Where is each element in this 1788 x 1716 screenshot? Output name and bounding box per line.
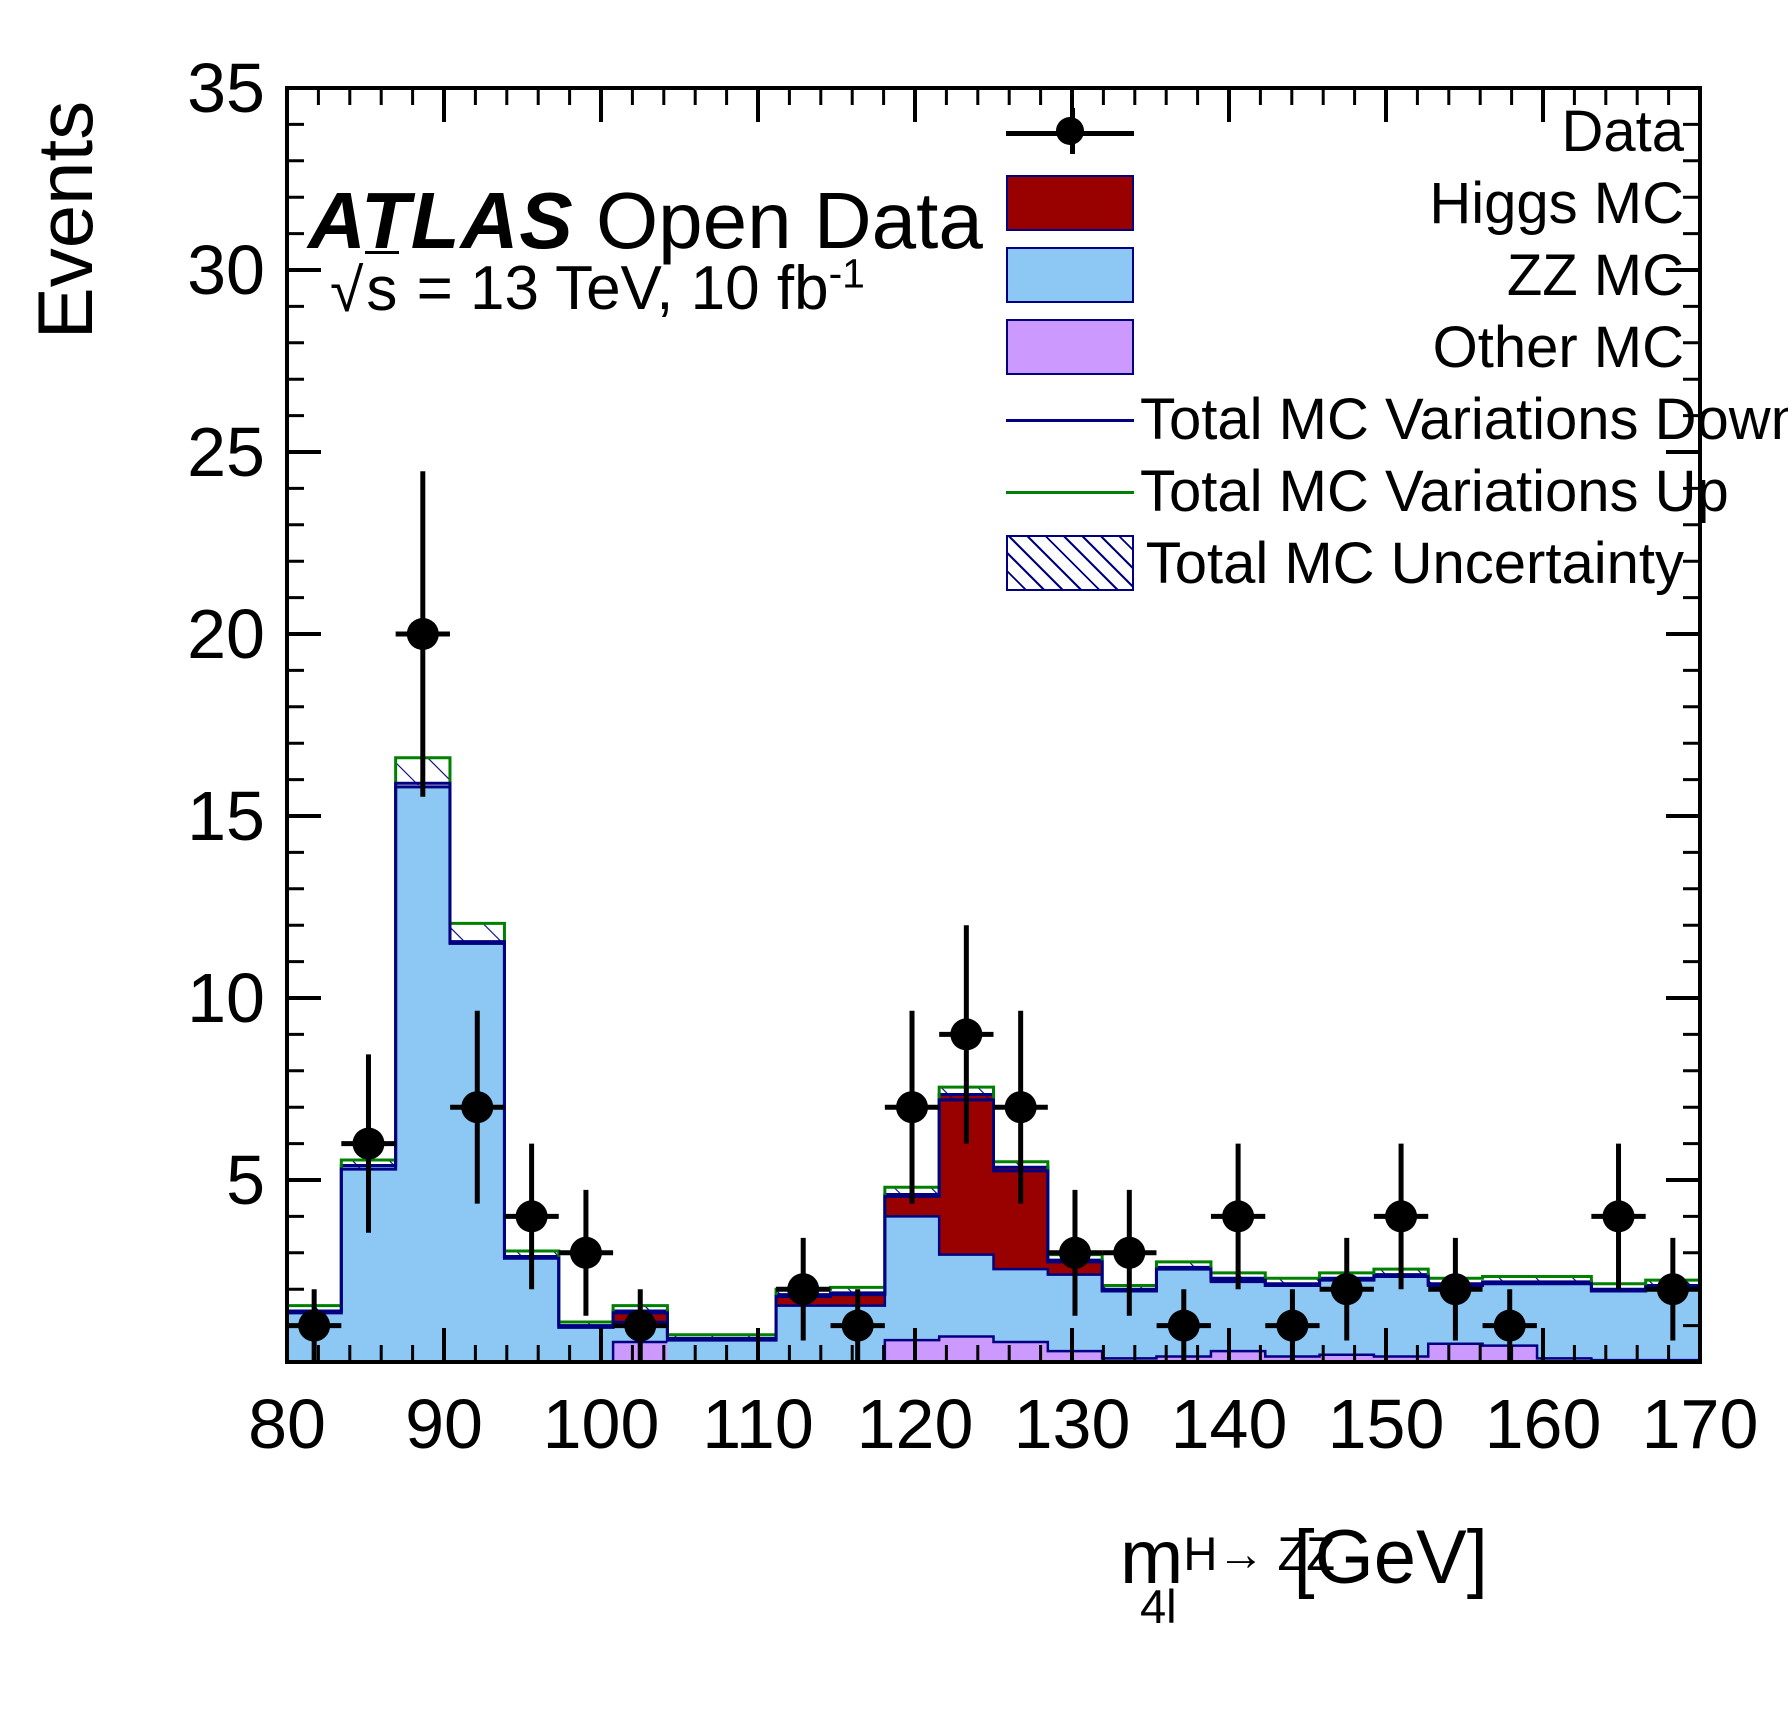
x-tick-label: 170 [1642,1384,1759,1464]
y-tick-label: 10 [70,958,265,1038]
x-tick-label: 130 [1014,1384,1131,1464]
y-tick-label: 30 [70,230,265,310]
plot-canvas: Events mH→ ZZ4l[GeV] ATLAS Open Data √s … [0,0,1788,1716]
y-tick-label: 25 [70,412,265,492]
y-tick-label: 20 [70,594,265,674]
x-tick-label: 140 [1171,1384,1288,1464]
y-tick-label: 35 [70,48,265,128]
x-tick-label: 120 [857,1384,974,1464]
x-tick-label: 110 [702,1384,814,1464]
x-tick-label: 150 [1328,1384,1445,1464]
y-tick-label: 5 [70,1140,265,1220]
x-tick-label: 160 [1485,1384,1602,1464]
x-tick-label: 100 [543,1384,660,1464]
x-tick-label: 90 [405,1384,483,1464]
x-tick-label: 80 [248,1384,326,1464]
tick-labels: 5101520253035809010011012013014015016017… [0,0,1788,1716]
y-tick-label: 15 [70,776,265,856]
